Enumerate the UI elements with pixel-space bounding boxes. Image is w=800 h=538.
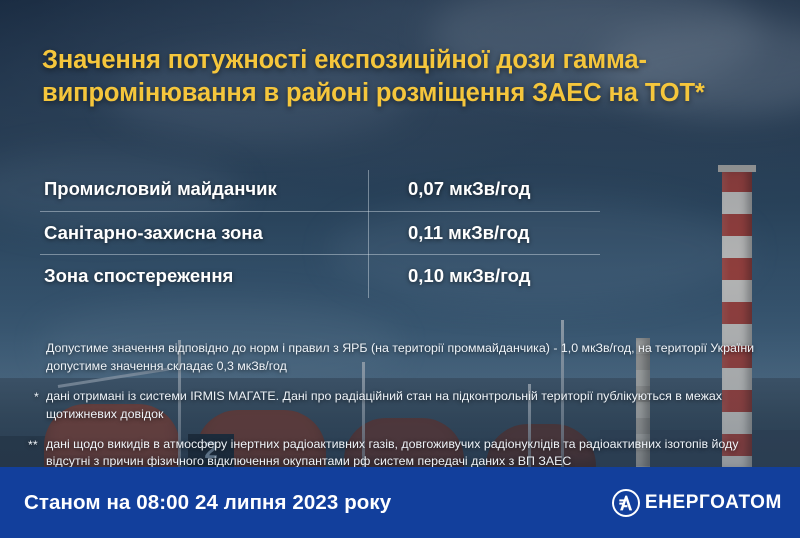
zone-label: Промисловий майданчик (40, 178, 372, 200)
zone-label: Зона спостереження (40, 265, 372, 287)
footnote-text: дані отримані із системи IRMIS МАГАТЕ. Д… (46, 389, 722, 421)
footnote-text: Допустиме значення відповідно до норм і … (46, 341, 754, 373)
table-row: Промисловий майданчик 0,07 мкЗв/год (40, 168, 600, 211)
footnote-marker: ** (28, 437, 38, 455)
energoatom-emblem-icon (611, 488, 641, 518)
footnote-limits: Допустиме значення відповідно до норм і … (24, 340, 780, 375)
infographic-poster: 2 Значення потужності експозиційної дози… (0, 0, 800, 538)
energoatom-logo: ЕНЕРГОАТОМ (611, 488, 782, 518)
dose-value: 0,07 мкЗв/год (372, 178, 530, 200)
page-title: Значення потужності експозиційної дози г… (42, 44, 732, 110)
dose-rate-table: Промисловий майданчик 0,07 мкЗв/год Сані… (40, 168, 600, 298)
zone-label: Санітарно-захисна зона (40, 222, 372, 244)
footnote-emissions: ** дані щодо викидів в атмосферу інертни… (24, 436, 780, 471)
footnote-text: дані щодо викидів в атмосферу інертних р… (46, 437, 738, 469)
poster-content: Значення потужності експозиційної дози г… (0, 0, 800, 538)
timestamp-label: Станом на 08:00 24 липня 2023 року (24, 491, 391, 515)
dose-value: 0,10 мкЗв/год (372, 265, 530, 287)
brand-wordmark: ЕНЕРГОАТОМ (645, 492, 782, 514)
footer-bar: Станом на 08:00 24 липня 2023 року ЕНЕРГ… (0, 467, 800, 538)
footnote-marker: * (34, 389, 39, 407)
table-row: Санітарно-захисна зона 0,11 мкЗв/год (40, 211, 600, 255)
dose-value: 0,11 мкЗв/год (372, 222, 529, 244)
footnotes: Допустиме значення відповідно до норм і … (24, 328, 780, 480)
table-row: Зона спостереження 0,10 мкЗв/год (40, 254, 600, 298)
footnote-irmis: * дані отримані із системи IRMIS МАГАТЕ.… (24, 388, 780, 423)
